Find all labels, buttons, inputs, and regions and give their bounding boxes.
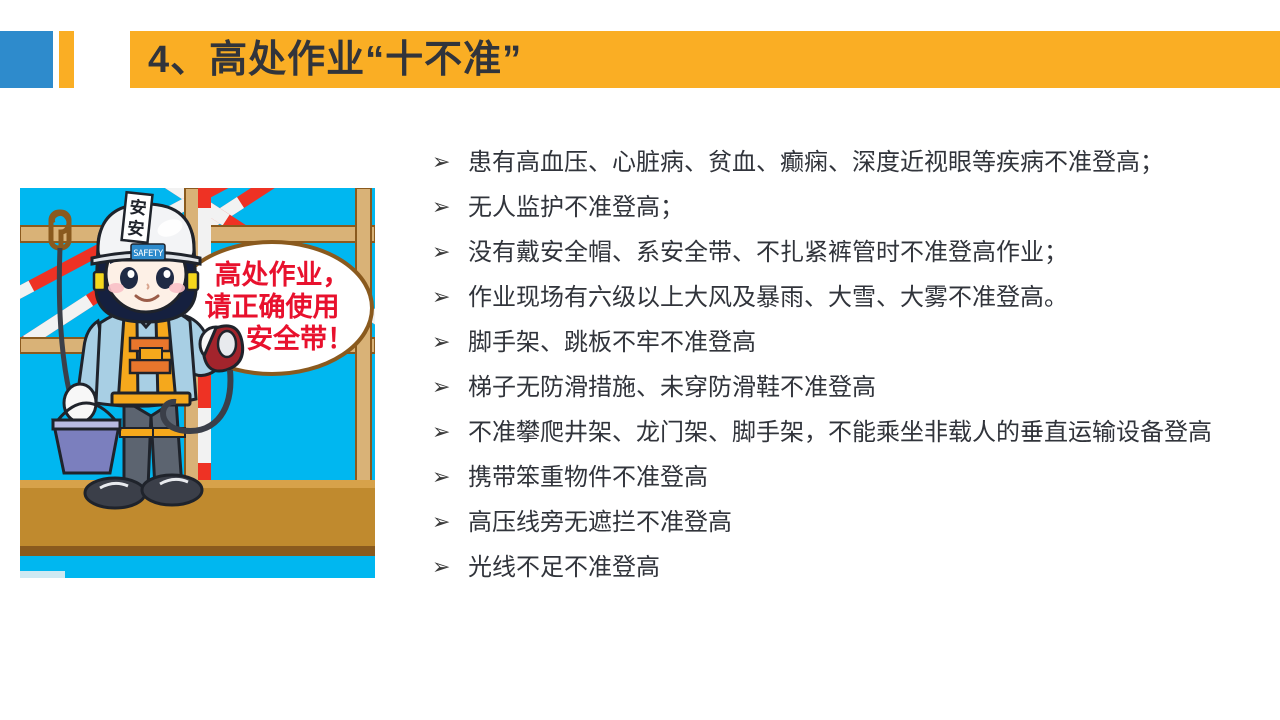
bullet-arrow-icon: ➢ bbox=[432, 328, 468, 358]
title-banner: 4、高处作业“十不准” bbox=[130, 31, 1280, 88]
list-item: ➢ 脚手架、跳板不牢不准登高 bbox=[432, 328, 1252, 358]
list-item: ➢ 患有高血压、心脏病、贫血、癫痫、深度近视眼等疾病不准登高； bbox=[432, 148, 1252, 178]
bubble-line-3: 安全带！ bbox=[246, 323, 354, 354]
rule-text: 作业现场有六级以上大风及暴雨、大雪、大雾不准登高。 bbox=[468, 283, 1252, 313]
slide-content: 高处作业， 请正确使用 安全带！ bbox=[0, 110, 1280, 720]
list-item: ➢ 作业现场有六级以上大风及暴雨、大雪、大雾不准登高。 bbox=[432, 283, 1252, 313]
bullet-arrow-icon: ➢ bbox=[432, 373, 468, 403]
header-accent-square-blue bbox=[0, 31, 53, 88]
rule-text: 无人监护不准登高； bbox=[468, 193, 1252, 223]
page-title: 4、高处作业“十不准” bbox=[130, 41, 522, 79]
bubble-line-2: 请正确使用 bbox=[205, 291, 340, 322]
bullet-arrow-icon: ➢ bbox=[432, 463, 468, 493]
page-header: 4、高处作业“十不准” bbox=[0, 0, 1280, 110]
rule-text: 没有戴安全帽、系安全带、不扎紧裤管时不准登高作业； bbox=[468, 238, 1252, 268]
rule-text: 高压线旁无遮拦不准登高 bbox=[468, 508, 1252, 538]
list-item: ➢ 没有戴安全帽、系安全带、不扎紧裤管时不准登高作业； bbox=[432, 238, 1252, 268]
rules-list: ➢ 患有高血压、心脏病、贫血、癫痫、深度近视眼等疾病不准登高； ➢ 无人监护不准… bbox=[432, 148, 1252, 598]
header-accent-bar-orange bbox=[59, 31, 74, 88]
svg-text:SAFETY: SAFETY bbox=[133, 249, 164, 259]
bullet-arrow-icon: ➢ bbox=[432, 148, 468, 178]
bullet-arrow-icon: ➢ bbox=[432, 238, 468, 268]
bullet-arrow-icon: ➢ bbox=[432, 418, 468, 448]
svg-text:安: 安 bbox=[129, 197, 148, 219]
bullet-arrow-icon: ➢ bbox=[432, 508, 468, 538]
rule-text: 不准攀爬井架、龙门架、脚手架，不能乘坐非载人的垂直运输设备登高 bbox=[468, 418, 1252, 448]
bullet-arrow-icon: ➢ bbox=[432, 283, 468, 313]
rule-text: 梯子无防滑措施、未穿防滑鞋不准登高 bbox=[468, 373, 1252, 403]
list-item: ➢ 光线不足不准登高 bbox=[432, 553, 1252, 583]
rule-text: 携带笨重物件不准登高 bbox=[468, 463, 1252, 493]
list-item: ➢ 梯子无防滑措施、未穿防滑鞋不准登高 bbox=[432, 373, 1252, 403]
list-item: ➢ 携带笨重物件不准登高 bbox=[432, 463, 1252, 493]
safety-poster-svg: 高处作业， 请正确使用 安全带！ bbox=[20, 188, 375, 578]
list-item: ➢ 高压线旁无遮拦不准登高 bbox=[432, 508, 1252, 538]
rule-text: 脚手架、跳板不牢不准登高 bbox=[468, 328, 1252, 358]
svg-text:安: 安 bbox=[126, 218, 145, 240]
rule-text: 光线不足不准登高 bbox=[468, 553, 1252, 583]
bullet-arrow-icon: ➢ bbox=[432, 553, 468, 583]
safety-poster-image: 高处作业， 请正确使用 安全带！ bbox=[20, 188, 375, 578]
bullet-arrow-icon: ➢ bbox=[432, 193, 468, 223]
list-item: ➢ 不准攀爬井架、龙门架、脚手架，不能乘坐非载人的垂直运输设备登高 bbox=[432, 418, 1252, 448]
list-item: ➢ 无人监护不准登高； bbox=[432, 193, 1252, 223]
bubble-line-1: 高处作业， bbox=[215, 259, 350, 290]
rule-text: 患有高血压、心脏病、贫血、癫痫、深度近视眼等疾病不准登高； bbox=[468, 148, 1252, 178]
